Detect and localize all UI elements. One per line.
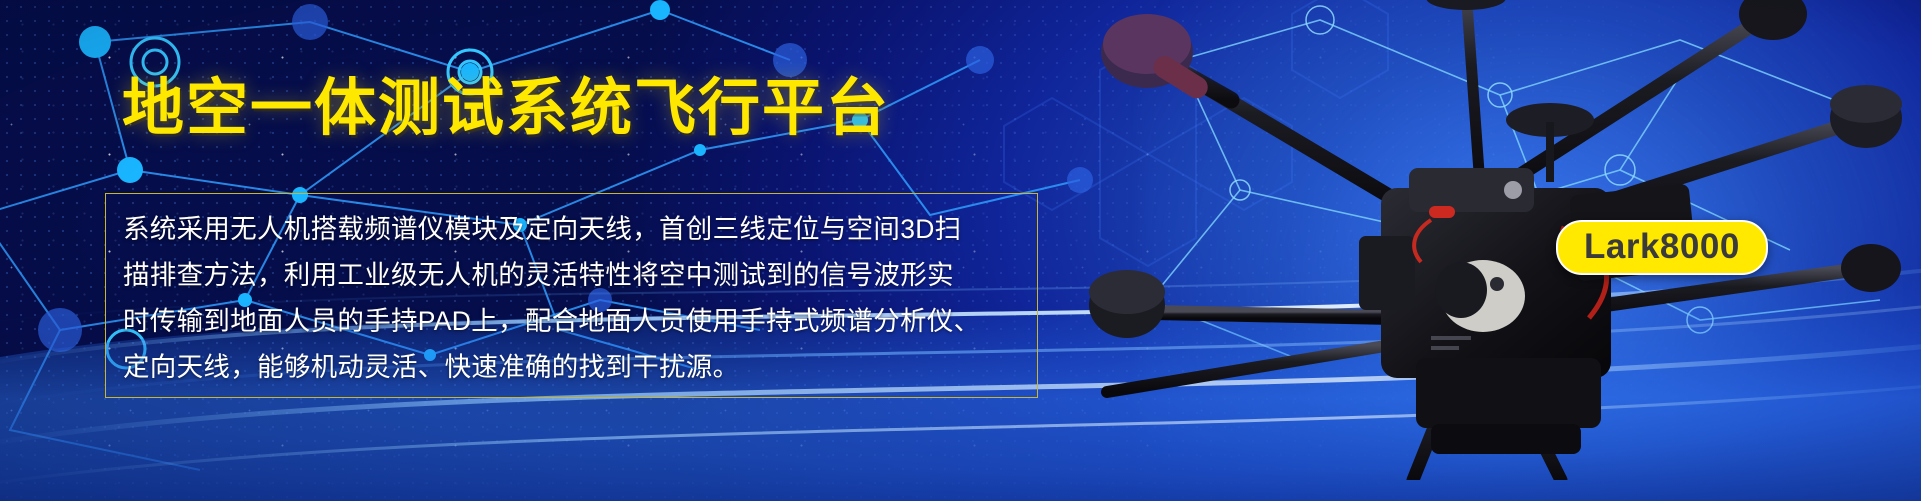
description-line: 描排查方法，利用工业级无人机的灵活特性将空中测试到的信号波形实 <box>123 252 1020 298</box>
description-box: 系统采用无人机搭载频谱仪模块及定向天线，首创三线定位与空间3D扫 描排查方法，利… <box>105 193 1038 398</box>
description-line: 时传输到地面人员的手持PAD上，配合地面人员使用手持式频谱分析仪、 <box>123 298 1020 344</box>
product-model-badge: Lark8000 <box>1556 220 1768 275</box>
description-line: 定向天线，能够机动灵活、快速准确的找到干扰源。 <box>123 344 1020 390</box>
product-banner: 地空一体测试系统飞行平台 系统采用无人机搭载频谱仪模块及定向天线，首创三线定位与… <box>0 0 1921 501</box>
page-title: 地空一体测试系统飞行平台 <box>122 78 890 140</box>
description-line: 系统采用无人机搭载频谱仪模块及定向天线，首创三线定位与空间3D扫 <box>123 206 1020 252</box>
